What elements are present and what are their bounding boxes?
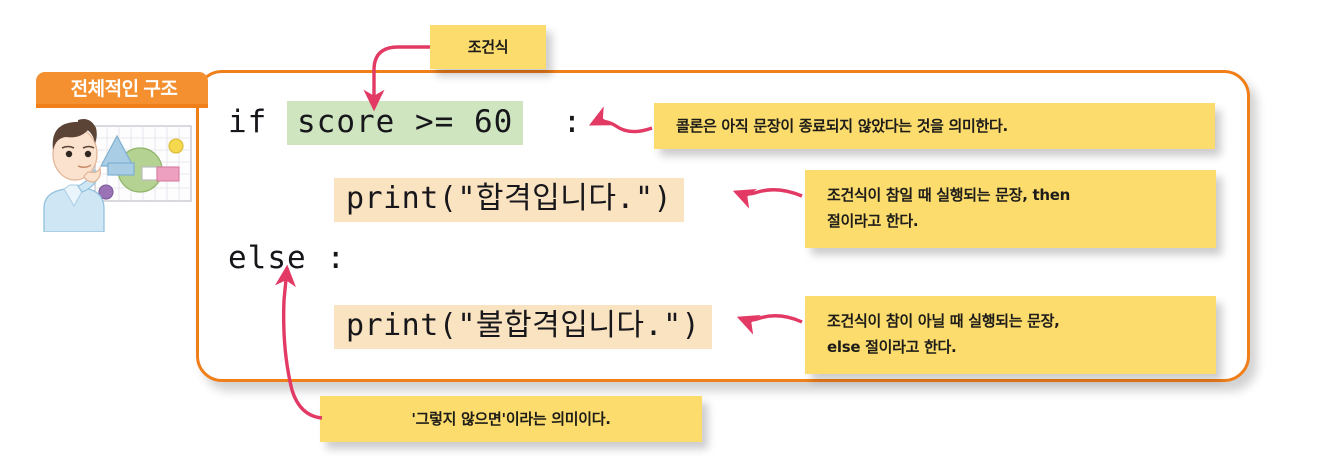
code-line-if: if score >= 60 : <box>228 104 582 140</box>
callout-colon-note: 콜론은 아직 문장이 종료되지 않았다는 것을 의미한다. <box>654 103 1215 149</box>
thinking-person-illustration <box>38 110 198 232</box>
callout-else-clause: 조건식이 참이 아닐 때 실행되는 문장, else 절이라고 한다. <box>805 296 1216 374</box>
code-line-print-fail: print("불합격입니다.") <box>334 300 712 344</box>
code-line-print-pass: print("합격입니다.") <box>334 173 684 217</box>
callout-then-line-2: 절이라고 한다. <box>827 208 1194 234</box>
callout-then-clause: 조건식이 참일 때 실행되는 문장, then 절이라고 한다. <box>805 170 1216 248</box>
section-tab-label: 전체적인 구조 <box>46 76 202 104</box>
callout-condition: 조건식 <box>430 25 546 69</box>
condition-expression: score >= 60 <box>287 101 523 145</box>
colon-if: : <box>523 104 582 140</box>
keyword-if: if <box>228 104 287 140</box>
then-statement: print("합격입니다.") <box>334 178 684 222</box>
section-tab-underline <box>36 104 208 108</box>
callout-else-line-2: else 절이라고 한다. <box>827 334 1194 360</box>
callout-else-line-1: 조건식이 참이 아닐 때 실행되는 문장, <box>827 308 1194 334</box>
diagram-canvas: 전체적인 구조 <box>0 0 1335 471</box>
callout-then-line-1: 조건식이 참일 때 실행되는 문장, then <box>827 182 1194 208</box>
code-line-else: else : <box>228 240 346 276</box>
callout-else-meaning: '그렇지 않으면'이라는 의미이다. <box>320 396 702 442</box>
else-statement: print("불합격입니다.") <box>334 305 712 349</box>
